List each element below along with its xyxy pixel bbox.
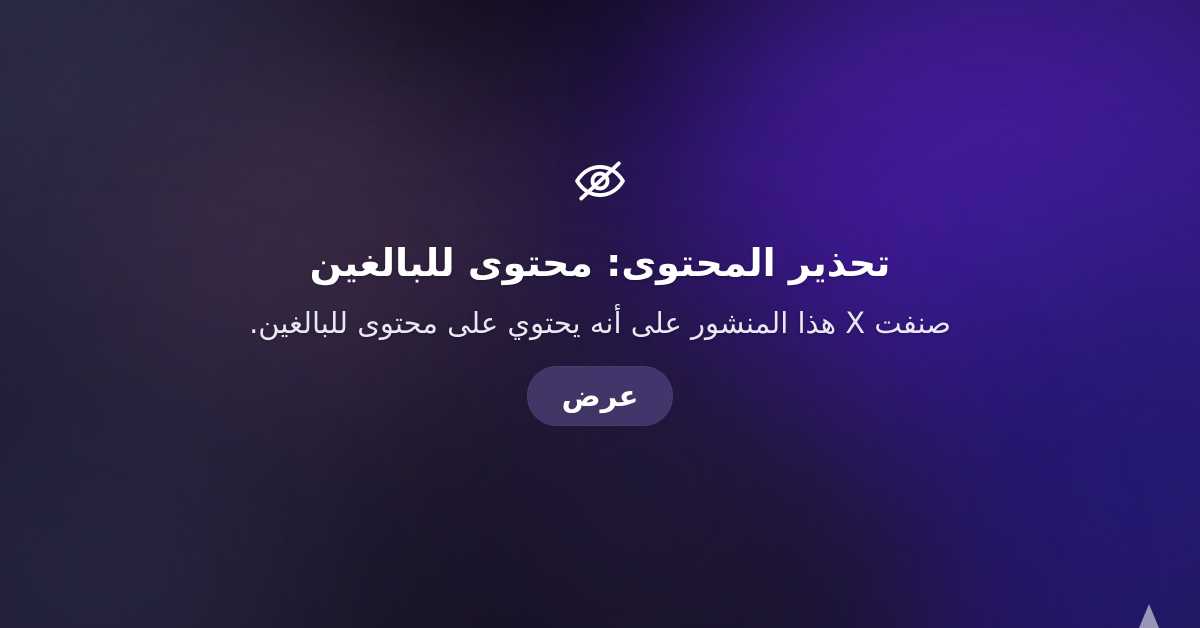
page-title: تحذير المحتوى: محتوى للبالغين <box>310 240 891 286</box>
warning-description: صنفت X هذا المنشور على أنه يحتوي على محت… <box>249 304 951 343</box>
eye-off-icon <box>571 152 629 210</box>
show-content-button[interactable]: عرض <box>527 366 673 426</box>
cursor-tip-artifact <box>1139 604 1159 628</box>
action-row: عرض <box>527 366 673 426</box>
content-warning-overlay: تحذير المحتوى: محتوى للبالغين صنفت X هذا… <box>0 0 1200 628</box>
warning-content: تحذير المحتوى: محتوى للبالغين صنفت X هذا… <box>0 0 1200 628</box>
